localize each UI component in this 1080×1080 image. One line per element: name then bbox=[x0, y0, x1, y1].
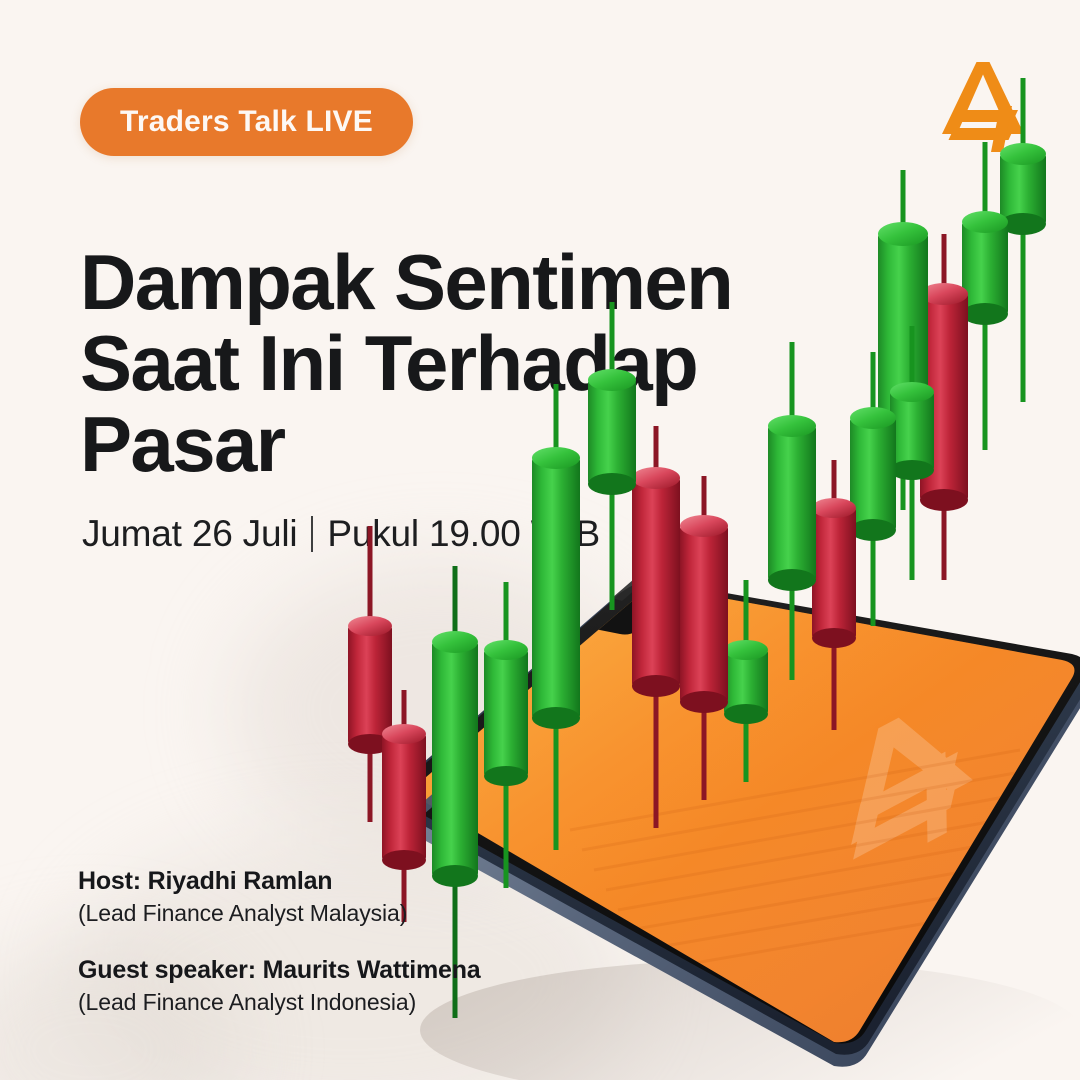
schedule-separator bbox=[311, 516, 313, 552]
schedule-date: Jumat 26 Juli bbox=[82, 513, 297, 555]
candle-6-up bbox=[588, 302, 636, 610]
traders-talk-live-badge[interactable]: Traders Talk LIVE bbox=[80, 88, 413, 156]
headline-line-1: Dampak Sentimen bbox=[80, 242, 800, 323]
guest-name: Guest speaker: Maurits Wattimena bbox=[78, 955, 598, 986]
host-role: (Lead Finance Analyst Malaysia) bbox=[78, 899, 598, 929]
host-name: Host: Riyadhi Ramlan bbox=[78, 866, 598, 897]
badge-label: Traders Talk LIVE bbox=[120, 105, 373, 139]
guest-entry: Guest speaker: Maurits Wattimena (Lead F… bbox=[78, 955, 598, 1018]
brand-a-logo-icon bbox=[932, 58, 1036, 156]
speakers-block: Host: Riyadhi Ramlan (Lead Finance Analy… bbox=[78, 866, 598, 1018]
guest-role: (Lead Finance Analyst Indonesia) bbox=[78, 988, 598, 1018]
host-entry: Host: Riyadhi Ramlan (Lead Finance Analy… bbox=[78, 866, 598, 929]
poster-canvas: Traders Talk LIVE Dampak Sentimen Saat I… bbox=[0, 0, 1080, 1080]
